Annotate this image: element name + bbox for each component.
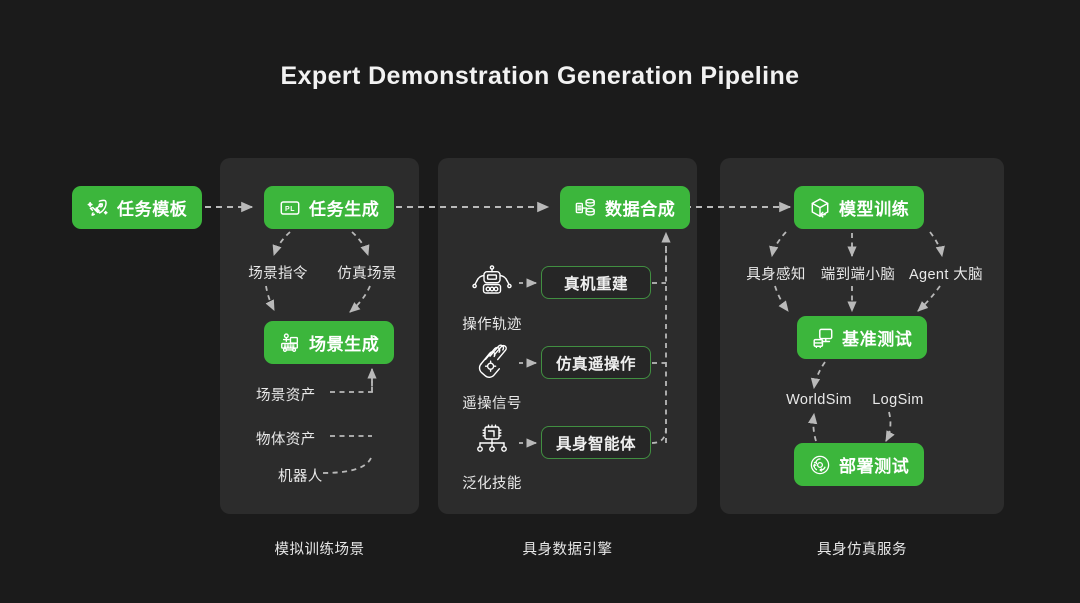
monitor-test-icon (812, 327, 834, 349)
pl-badge-icon: PL (279, 197, 301, 219)
robot-icon (470, 262, 514, 302)
box-real-machine-reconstruction[interactable]: 真机重建 (541, 266, 651, 299)
caption-panel-1: 模拟训练场景 (220, 538, 419, 559)
label-worldsim: WorldSim (786, 392, 852, 408)
node-label: 模型训练 (839, 195, 909, 220)
node-benchmark-test[interactable]: 基准测试 (797, 316, 927, 359)
page-title: Expert Demonstration Generation Pipeline (0, 62, 1080, 91)
node-scene-generation[interactable]: 场景生成 (264, 321, 394, 364)
node-label: 任务生成 (309, 195, 379, 220)
box-embodied-agent[interactable]: 具身智能体 (541, 426, 651, 459)
node-model-training[interactable]: 模型训练 (794, 186, 924, 229)
node-task-generation[interactable]: PL 任务生成 (264, 186, 394, 229)
label-operation-trajectory: 操作轨迹 (462, 313, 522, 334)
data-synthesis-icon (575, 197, 597, 219)
label-generalization-skills: 泛化技能 (462, 472, 522, 493)
pipeline-diagram: Expert Demonstration Generation Pipeline (0, 0, 1080, 603)
node-label: 部署测试 (839, 452, 909, 477)
cube-arrow-icon (809, 197, 831, 219)
chip-network-icon (470, 422, 514, 462)
node-label: 数据合成 (605, 195, 675, 220)
rocket-icon (87, 197, 109, 219)
node-deployment-test[interactable]: 部署测试 (794, 443, 924, 486)
label-simulation-scene: 仿真场景 (337, 262, 397, 283)
node-label: 基准测试 (842, 325, 912, 350)
caption-panel-2: 具身数据引擎 (438, 538, 697, 559)
label-logsim: LogSim (872, 392, 924, 408)
deploy-cycle-icon (809, 454, 831, 476)
node-label: 场景生成 (309, 330, 379, 355)
label-robot: 机器人 (278, 465, 323, 486)
scene-robot-icon (279, 332, 301, 354)
node-task-template[interactable]: 任务模板 (72, 186, 202, 229)
node-data-synthesis[interactable]: 数据合成 (560, 186, 690, 229)
label-scene-instruction: 场景指令 (248, 262, 308, 283)
label-scene-assets: 场景资产 (256, 384, 316, 405)
label-object-assets: 物体资产 (256, 428, 316, 449)
svg-text:PL: PL (285, 205, 295, 212)
box-simulated-teleoperation[interactable]: 仿真遥操作 (541, 346, 651, 379)
label-end-to-end-cerebellum: 端到端小脑 (821, 263, 896, 284)
node-label: 任务模板 (117, 195, 187, 220)
label-teleop-signal: 遥操信号 (462, 392, 522, 413)
caption-panel-3: 具身仿真服务 (720, 538, 1004, 559)
glove-icon (470, 342, 514, 382)
label-embodied-perception: 具身感知 (746, 263, 806, 284)
label-agent-brain: Agent 大脑 (909, 263, 983, 284)
